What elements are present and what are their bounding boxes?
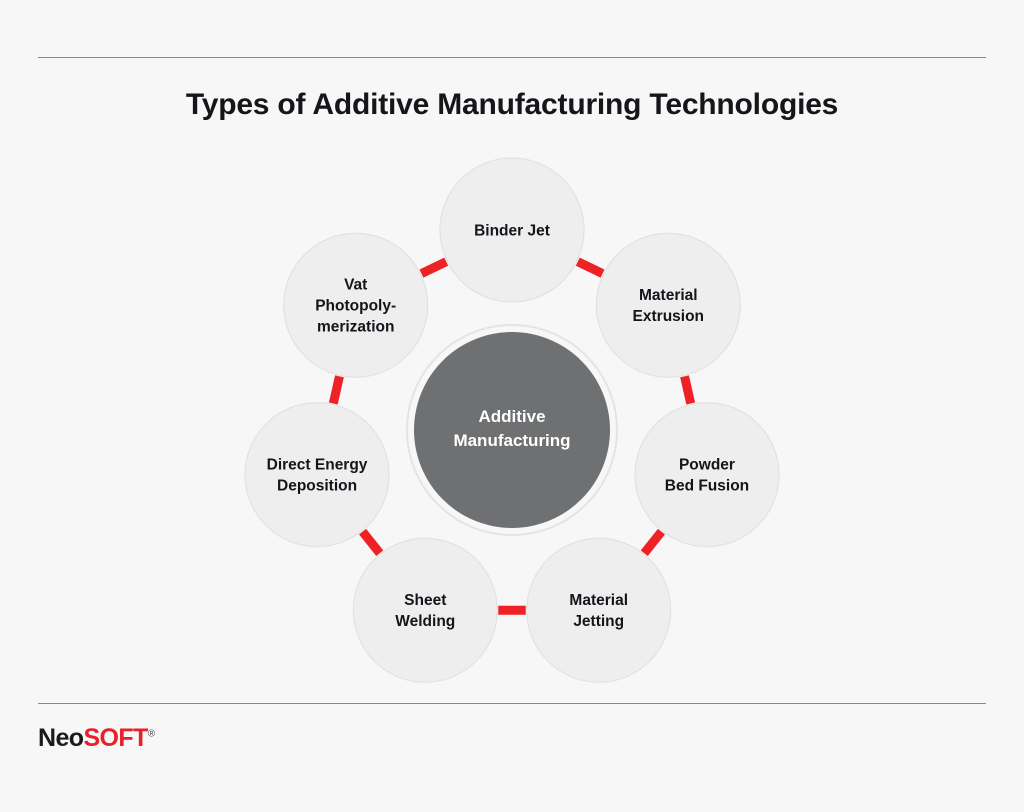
node-circle xyxy=(596,233,740,377)
node-label-line-1: Vat xyxy=(344,277,367,294)
connector-0 xyxy=(578,262,603,274)
node-powder-bed-fusion[interactable]: PowderBed Fusion xyxy=(635,403,779,547)
node-direct-energy-deposition[interactable]: Direct EnergyDeposition xyxy=(245,403,389,547)
node-label-line-2: Deposition xyxy=(277,478,357,495)
header-divider xyxy=(38,57,986,58)
connector-5 xyxy=(333,376,339,403)
node-label-line-3: merization xyxy=(317,319,395,336)
center-node[interactable]: Additive Manufacturing xyxy=(407,325,617,535)
node-material-extrusion[interactable]: MaterialExtrusion xyxy=(596,233,740,377)
node-label-line-1: Direct Energy xyxy=(267,457,368,474)
page-title: Types of Additive Manufacturing Technolo… xyxy=(0,88,1024,122)
neosoft-logo[interactable]: NeoSOFT® xyxy=(38,724,155,753)
node-label-line-1: Sheet xyxy=(404,592,446,609)
node-label-line-1: Binder Jet xyxy=(474,223,550,240)
registered-mark-icon: ® xyxy=(148,729,155,740)
cycle-diagram: Binder JetMaterialExtrusionPowderBed Fus… xyxy=(0,140,1024,700)
node-label-line-2: Bed Fusion xyxy=(665,478,749,495)
logo-text-soft: SOFT xyxy=(83,724,147,752)
node-label-line-2: Photopoly- xyxy=(315,298,396,315)
node-label-line-1: Material xyxy=(569,592,628,609)
connector-2 xyxy=(644,532,661,553)
node-binder-jet[interactable]: Binder Jet xyxy=(440,158,584,302)
infographic-page: Types of Additive Manufacturing Technolo… xyxy=(0,0,1024,812)
center-label-line-2: Manufacturing xyxy=(453,431,570,450)
node-material-jetting[interactable]: MaterialJetting xyxy=(527,538,671,682)
node-sheet-welding[interactable]: SheetWelding xyxy=(353,538,497,682)
node-circle xyxy=(353,538,497,682)
node-circle xyxy=(635,403,779,547)
node-label-line-2: Jetting xyxy=(573,613,624,630)
node-circle xyxy=(527,538,671,682)
node-label-line-2: Extrusion xyxy=(633,308,704,325)
center-label-line-1: Additive xyxy=(478,407,545,426)
footer-divider xyxy=(38,703,986,704)
node-vat-photopolymerization[interactable]: VatPhotopoly-merization xyxy=(284,233,428,377)
node-label-line-1: Powder xyxy=(679,457,735,474)
connector-1 xyxy=(685,376,691,403)
node-circle xyxy=(245,403,389,547)
connector-4 xyxy=(363,532,380,553)
connector-6 xyxy=(421,262,446,274)
logo-text-neo: Neo xyxy=(38,724,83,752)
node-label-line-2: Welding xyxy=(395,613,455,630)
center-circle xyxy=(414,332,610,528)
node-label-line-1: Material xyxy=(639,287,698,304)
